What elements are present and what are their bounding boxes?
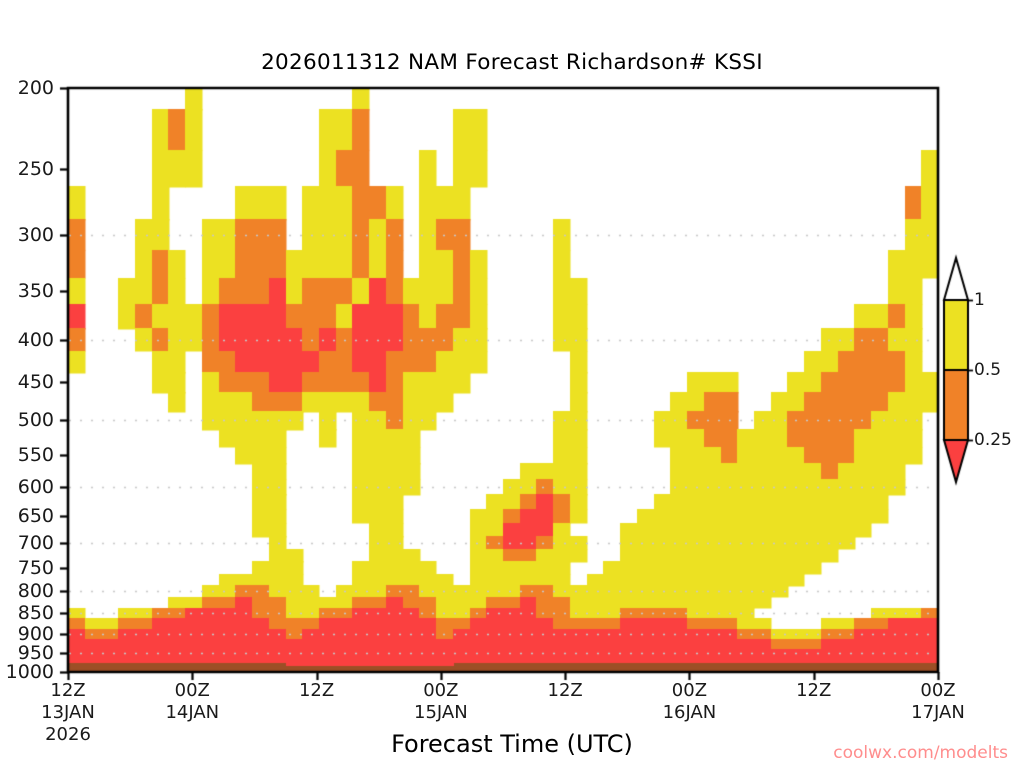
colorbar-tick-label: 0.5	[974, 360, 1001, 380]
colorbar-tick-label: 0.25	[974, 430, 1012, 450]
colorbar-tick-labels: 10.50.25	[0, 0, 1024, 768]
forecast-richardson-number-chart: 2026011312 NAM Forecast Richardson# KSSI…	[0, 0, 1024, 768]
colorbar-tick-label: 1	[974, 290, 985, 310]
